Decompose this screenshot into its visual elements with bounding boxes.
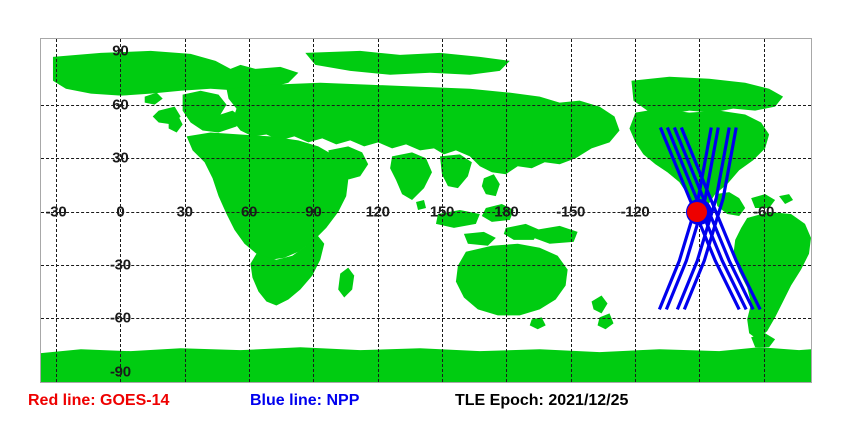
- goes-satellite-marker: [687, 202, 707, 222]
- latitude-tick-label: -60: [110, 310, 131, 327]
- longitude-tick-label: 30: [177, 203, 193, 220]
- legend-tle-epoch: TLE Epoch: 2021/12/25: [455, 392, 628, 410]
- legend-red-line-goes: Red line: GOES-14: [28, 392, 169, 410]
- longitude-tick-label: 60: [241, 203, 257, 220]
- legend-red-label: Red line:: [28, 392, 96, 409]
- longitude-tick-label: 150: [430, 203, 454, 220]
- legend-epoch-label: TLE Epoch:: [455, 392, 544, 409]
- world-map-panel: -300306090120150180-150-120-90-609060300…: [40, 38, 812, 383]
- longitude-tick-label: 180: [494, 203, 518, 220]
- latitude-tick-label: 90: [112, 43, 128, 60]
- legend-blue-line-npp: Blue line: NPP: [250, 392, 359, 410]
- legend-epoch-value: 2021/12/25: [548, 392, 628, 409]
- legend-blue-value: NPP: [326, 392, 359, 409]
- legend-bar: Red line: GOES-14 Blue line: NPP TLE Epo…: [0, 392, 850, 422]
- longitude-tick-label: -60: [753, 203, 774, 220]
- longitude-tick-label: 90: [305, 203, 321, 220]
- longitude-tick-label: -150: [556, 203, 585, 220]
- legend-blue-label: Blue line:: [250, 392, 322, 409]
- latitude-tick-label: 60: [112, 96, 128, 113]
- latitude-tick-label: -30: [110, 256, 131, 273]
- longitude-tick-label: -30: [46, 203, 67, 220]
- latitude-tick-label: -90: [110, 363, 131, 380]
- longitude-tick-label: -120: [621, 203, 650, 220]
- longitude-tick-label: 120: [366, 203, 390, 220]
- legend-red-value: GOES-14: [100, 392, 169, 409]
- latitude-tick-label: 0: [116, 203, 124, 220]
- latitude-tick-label: 30: [112, 150, 128, 167]
